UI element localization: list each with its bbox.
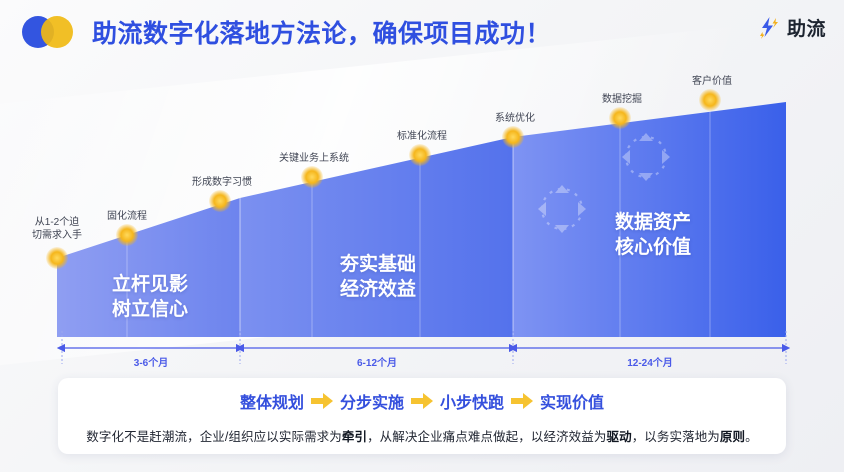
right-arrow-icon <box>510 392 534 410</box>
node-dot-1 <box>46 247 68 269</box>
overlapping-circles-logo-icon <box>22 16 74 48</box>
timeline-label-2: 6-12个月 <box>357 354 397 369</box>
summary-description: 数字化不是赶潮流，企业/组织应以实际需求为牵引，从解决企业痛点难点做起，以经济效… <box>58 426 786 445</box>
corner-logo-text: 助流 <box>787 14 826 41</box>
ramp-segment-stage-2 <box>240 137 513 337</box>
step-label-2: 分步实施 <box>340 389 404 413</box>
stage-title-1: 立杆见影 树立信心 <box>112 272 188 322</box>
node-dot-5 <box>409 144 431 166</box>
node-label-8: 客户价值 <box>692 75 732 88</box>
summary-card: 整体规划 分步实施 小步快跑 实现价值 数字化不是赶潮流，企业/组织应以实际需求… <box>58 378 786 454</box>
slide-root: 助流数字化落地方法论，确保项目成功！ 助流 <box>0 0 844 472</box>
lightning-bolt-icon <box>756 15 782 41</box>
principle-steps: 整体规划 分步实施 小步快跑 实现价值 <box>58 378 786 418</box>
description-emphasis: 原则 <box>720 430 745 444</box>
timeline-label-3: 12-24个月 <box>627 354 673 369</box>
timeline-label-1: 3-6个月 <box>134 354 168 369</box>
corner-brand-logo: 助流 <box>756 14 826 41</box>
node-label-1: 从1-2个迫 切需求入手 <box>32 216 82 242</box>
slide-header: 助流数字化落地方法论，确保项目成功！ 助流 <box>0 0 844 64</box>
stage-title-2: 夯实基础 经济效益 <box>340 252 416 302</box>
node-label-5: 标准化流程 <box>397 130 447 143</box>
step-label-3: 小步快跑 <box>440 389 504 413</box>
node-dot-7 <box>609 107 631 129</box>
node-dot-8 <box>699 89 721 111</box>
description-emphasis: 牵引 <box>342 430 367 444</box>
description-text: ，从解决企业痛点难点做起，以经济效益为 <box>367 430 606 444</box>
node-label-7: 数据挖掘 <box>602 93 642 106</box>
description-text: ，以务实落地为 <box>632 430 720 444</box>
stage-title-3: 数据资产 核心价值 <box>615 210 691 260</box>
node-label-2: 固化流程 <box>107 210 147 223</box>
step-label-1: 整体规划 <box>240 389 304 413</box>
description-text: 。 <box>745 430 758 444</box>
description-emphasis: 驱动 <box>606 430 631 444</box>
node-dot-2 <box>116 224 138 246</box>
right-arrow-icon <box>410 392 434 410</box>
node-label-4: 关键业务上系统 <box>279 152 349 165</box>
node-dot-3 <box>209 190 231 212</box>
node-label-6: 系统优化 <box>495 112 535 125</box>
page-title: 助流数字化落地方法论，确保项目成功！ <box>92 14 551 50</box>
node-label-3: 形成数字习惯 <box>192 176 252 189</box>
timeline-svg <box>0 330 844 372</box>
node-dot-4 <box>301 166 323 188</box>
step-label-4: 实现价值 <box>540 389 604 413</box>
timeline-axis: 3-6个月 6-12个月 12-24个月 <box>0 330 844 372</box>
right-arrow-icon <box>310 392 334 410</box>
node-dot-6 <box>502 126 524 148</box>
description-text: 数字化不是赶潮流，企业/组织应以实际需求为 <box>86 430 342 444</box>
logo-circle-gold <box>41 16 73 48</box>
methodology-ramp-chart: 从1-2个迫 切需求入手 固化流程 形成数字习惯 关键业务上系统 标准化流程 系… <box>0 64 844 364</box>
